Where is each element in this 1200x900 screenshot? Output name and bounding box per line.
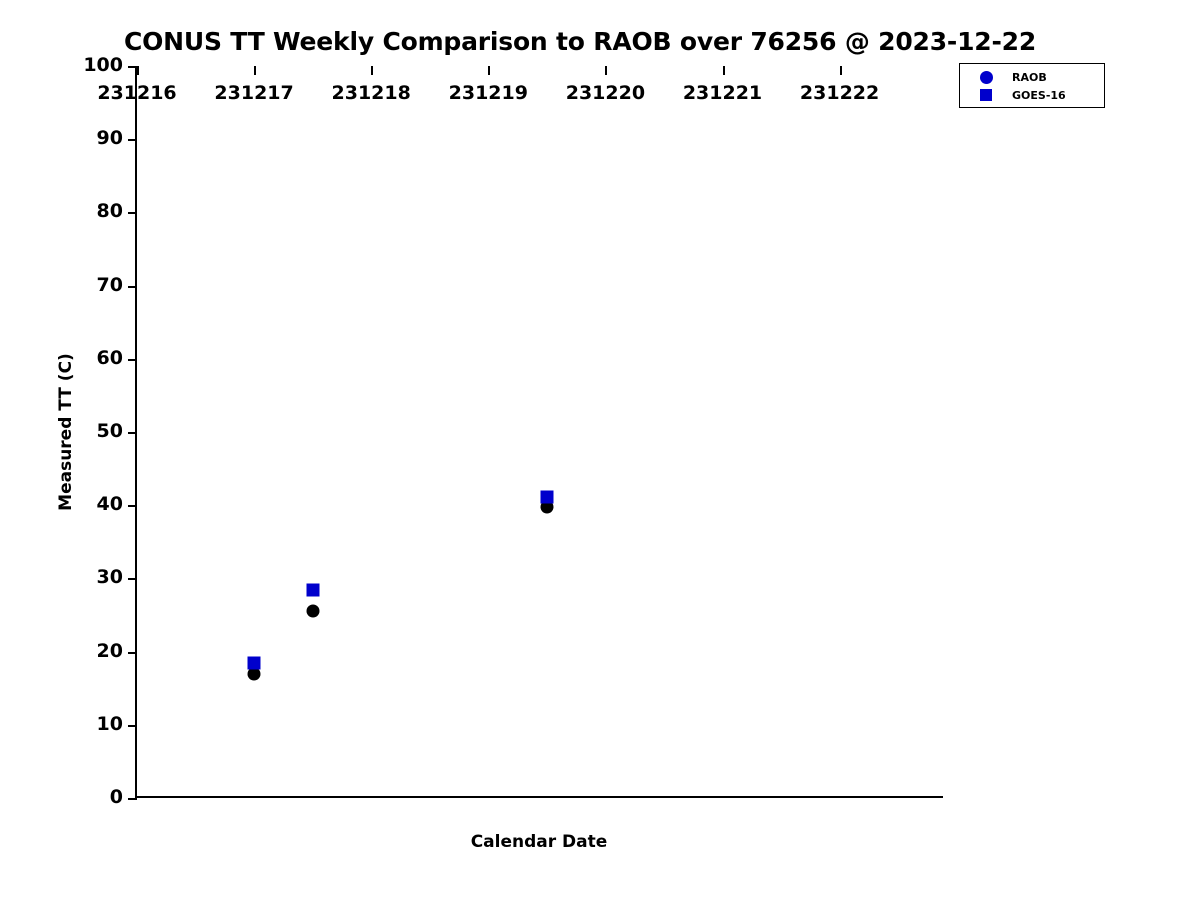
legend-square-icon xyxy=(960,89,1012,101)
y-tick-mark xyxy=(128,139,137,141)
data-point-raob xyxy=(306,605,319,618)
data-point-goes-16 xyxy=(306,584,319,597)
x-tick-mark xyxy=(488,66,490,75)
chart-legend: RAOB GOES-16 xyxy=(959,63,1105,108)
x-tick-label: 231222 xyxy=(800,82,879,104)
y-tick-label: 30 xyxy=(97,566,123,588)
x-tick-mark xyxy=(605,66,607,75)
x-tick-mark xyxy=(137,66,139,75)
y-tick-label: 60 xyxy=(97,347,123,369)
x-tick-mark xyxy=(371,66,373,75)
x-tick-label: 231220 xyxy=(566,82,645,104)
legend-label-goes16: GOES-16 xyxy=(1012,89,1066,102)
y-tick-label: 100 xyxy=(83,54,123,76)
y-tick-mark xyxy=(128,578,137,580)
x-tick-label: 231221 xyxy=(683,82,762,104)
x-tick-label: 231216 xyxy=(97,82,176,104)
x-tick-label: 231217 xyxy=(214,82,293,104)
plot-area: 0102030405060708090100 23121623121723121… xyxy=(135,66,943,798)
x-tick-label: 231219 xyxy=(449,82,528,104)
y-tick-label: 40 xyxy=(97,493,123,515)
y-tick-mark xyxy=(128,652,137,654)
y-tick-label: 50 xyxy=(97,420,123,442)
legend-label-raob: RAOB xyxy=(1012,71,1047,84)
y-tick-mark xyxy=(128,798,137,800)
chart-title: CONUS TT Weekly Comparison to RAOB over … xyxy=(0,27,1160,56)
y-tick-label: 80 xyxy=(97,200,123,222)
data-point-goes-16 xyxy=(540,491,553,504)
y-tick-mark xyxy=(128,725,137,727)
x-axis-label: Calendar Date xyxy=(135,832,943,852)
y-tick-label: 0 xyxy=(110,786,123,808)
y-tick-label: 20 xyxy=(97,640,123,662)
x-tick-mark xyxy=(254,66,256,75)
y-tick-label: 70 xyxy=(97,274,123,296)
y-tick-mark xyxy=(128,432,137,434)
y-tick-mark xyxy=(128,286,137,288)
y-tick-label: 90 xyxy=(97,127,123,149)
x-tick-label: 231218 xyxy=(332,82,411,104)
legend-circle-icon xyxy=(960,71,1012,84)
y-tick-mark xyxy=(128,66,137,68)
legend-entry-raob: RAOB xyxy=(960,67,1104,87)
x-tick-mark xyxy=(723,66,725,75)
y-tick-mark xyxy=(128,359,137,361)
y-tick-label: 10 xyxy=(97,713,123,735)
legend-entry-goes16: GOES-16 xyxy=(960,85,1104,105)
x-tick-mark xyxy=(840,66,842,75)
y-tick-mark xyxy=(128,505,137,507)
y-axis-label: Measured TT (C) xyxy=(56,66,78,798)
y-tick-mark xyxy=(128,212,137,214)
data-point-goes-16 xyxy=(248,657,261,670)
chart-figure: CONUS TT Weekly Comparison to RAOB over … xyxy=(0,0,1200,900)
